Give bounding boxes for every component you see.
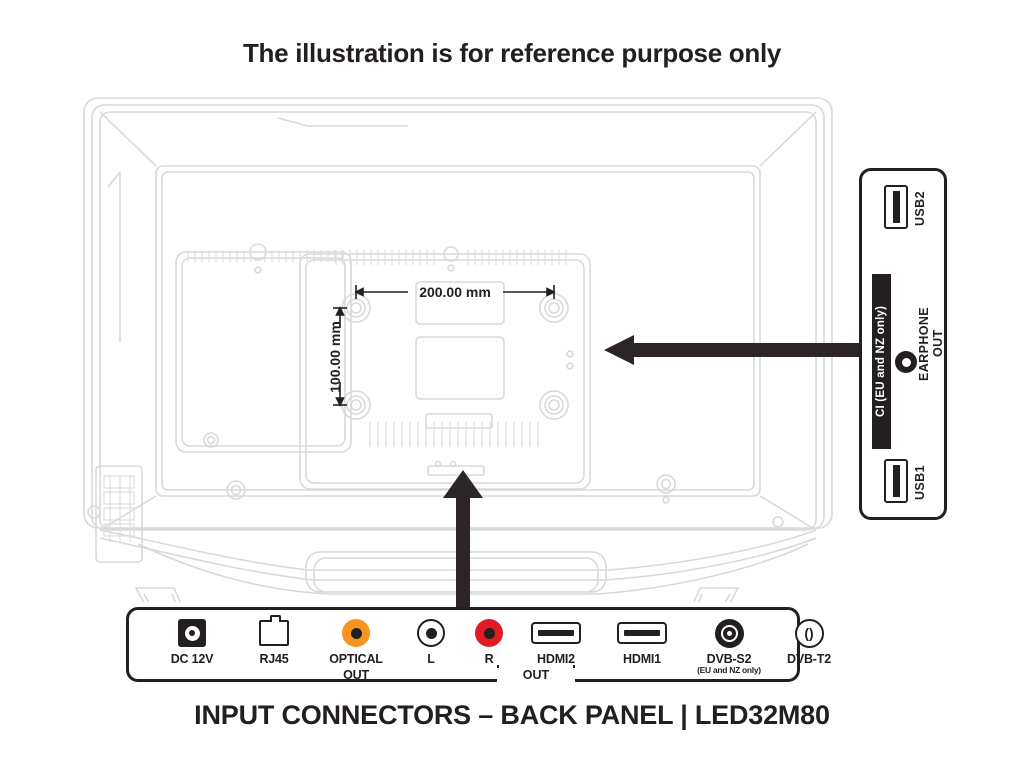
connector-label: L [401,653,461,666]
rca-red-icon [459,616,519,650]
connector-audio-right[interactable]: R [459,616,519,666]
bracket-label: OUT [497,668,575,682]
connector-rj45[interactable]: RJ45 [235,616,313,666]
ci-slot-label: CI (EU and NZ only) [870,274,892,449]
connector-label: OPTICAL [315,653,397,666]
connector-label: HDMI2 [513,653,599,666]
vesa-height-label: 100.00 mm [327,321,343,393]
audio-out-bracket: OUT [497,665,575,681]
rj45-icon [235,616,313,650]
coax-icon [681,616,777,650]
connector-audio-left[interactable]: L [401,616,461,666]
connector-usb1[interactable] [884,459,908,503]
optical-out-icon [315,616,397,650]
earphone-icon[interactable] [895,351,917,373]
earphone-label-line1: EARPHONE [918,296,931,391]
dc-jack-icon [153,616,231,650]
connector-hdmi2[interactable]: HDMI2 [513,616,599,666]
connector-dc-12v[interactable]: DC 12V [153,616,231,666]
connector-sublabel: OUT [315,669,397,682]
usb2-label: USB2 [914,187,927,231]
connector-sublabel: (EU and NZ only) [681,666,777,675]
connector-label: DVB-T2 [769,653,849,666]
footer-title: INPUT CONNECTORS – BACK PANEL | LED32M80 [0,700,1024,731]
arrow-to-bottom-panel-icon [443,470,483,625]
connector-label: R [459,653,519,666]
vesa-width-label: 200.00 mm [419,284,491,300]
usb1-label: USB1 [914,461,927,505]
rca-white-icon [401,616,461,650]
earphone-label-line2: OUT [932,321,945,365]
connector-label: DC 12V [153,653,231,666]
connector-dvb-s2[interactable]: DVB-S2 (EU and NZ only) [681,616,777,675]
connector-label: DVB-S2 [681,653,777,666]
connector-label: RJ45 [235,653,313,666]
page-heading: The illustration is for reference purpos… [0,38,1024,69]
rf-icon: () [769,616,849,650]
connector-hdmi1[interactable]: HDMI1 [599,616,685,666]
bottom-connector-panel: DC 12V RJ45 OPTICAL OUT L R HDMI [126,607,800,682]
illustration-canvas: The illustration is for reference purpos… [0,0,1024,781]
connector-optical-out[interactable]: OPTICAL OUT [315,616,397,681]
side-connector-panel: USB2 CI (EU and NZ only) EARPHONE OUT US… [859,168,947,520]
connector-usb2[interactable] [884,185,908,229]
connector-dvb-t2[interactable]: () DVB-T2 [769,616,849,666]
hdmi-icon [513,616,599,650]
connector-label: HDMI1 [599,653,685,666]
arrow-to-side-panel-icon [604,335,862,365]
hdmi-icon [599,616,685,650]
